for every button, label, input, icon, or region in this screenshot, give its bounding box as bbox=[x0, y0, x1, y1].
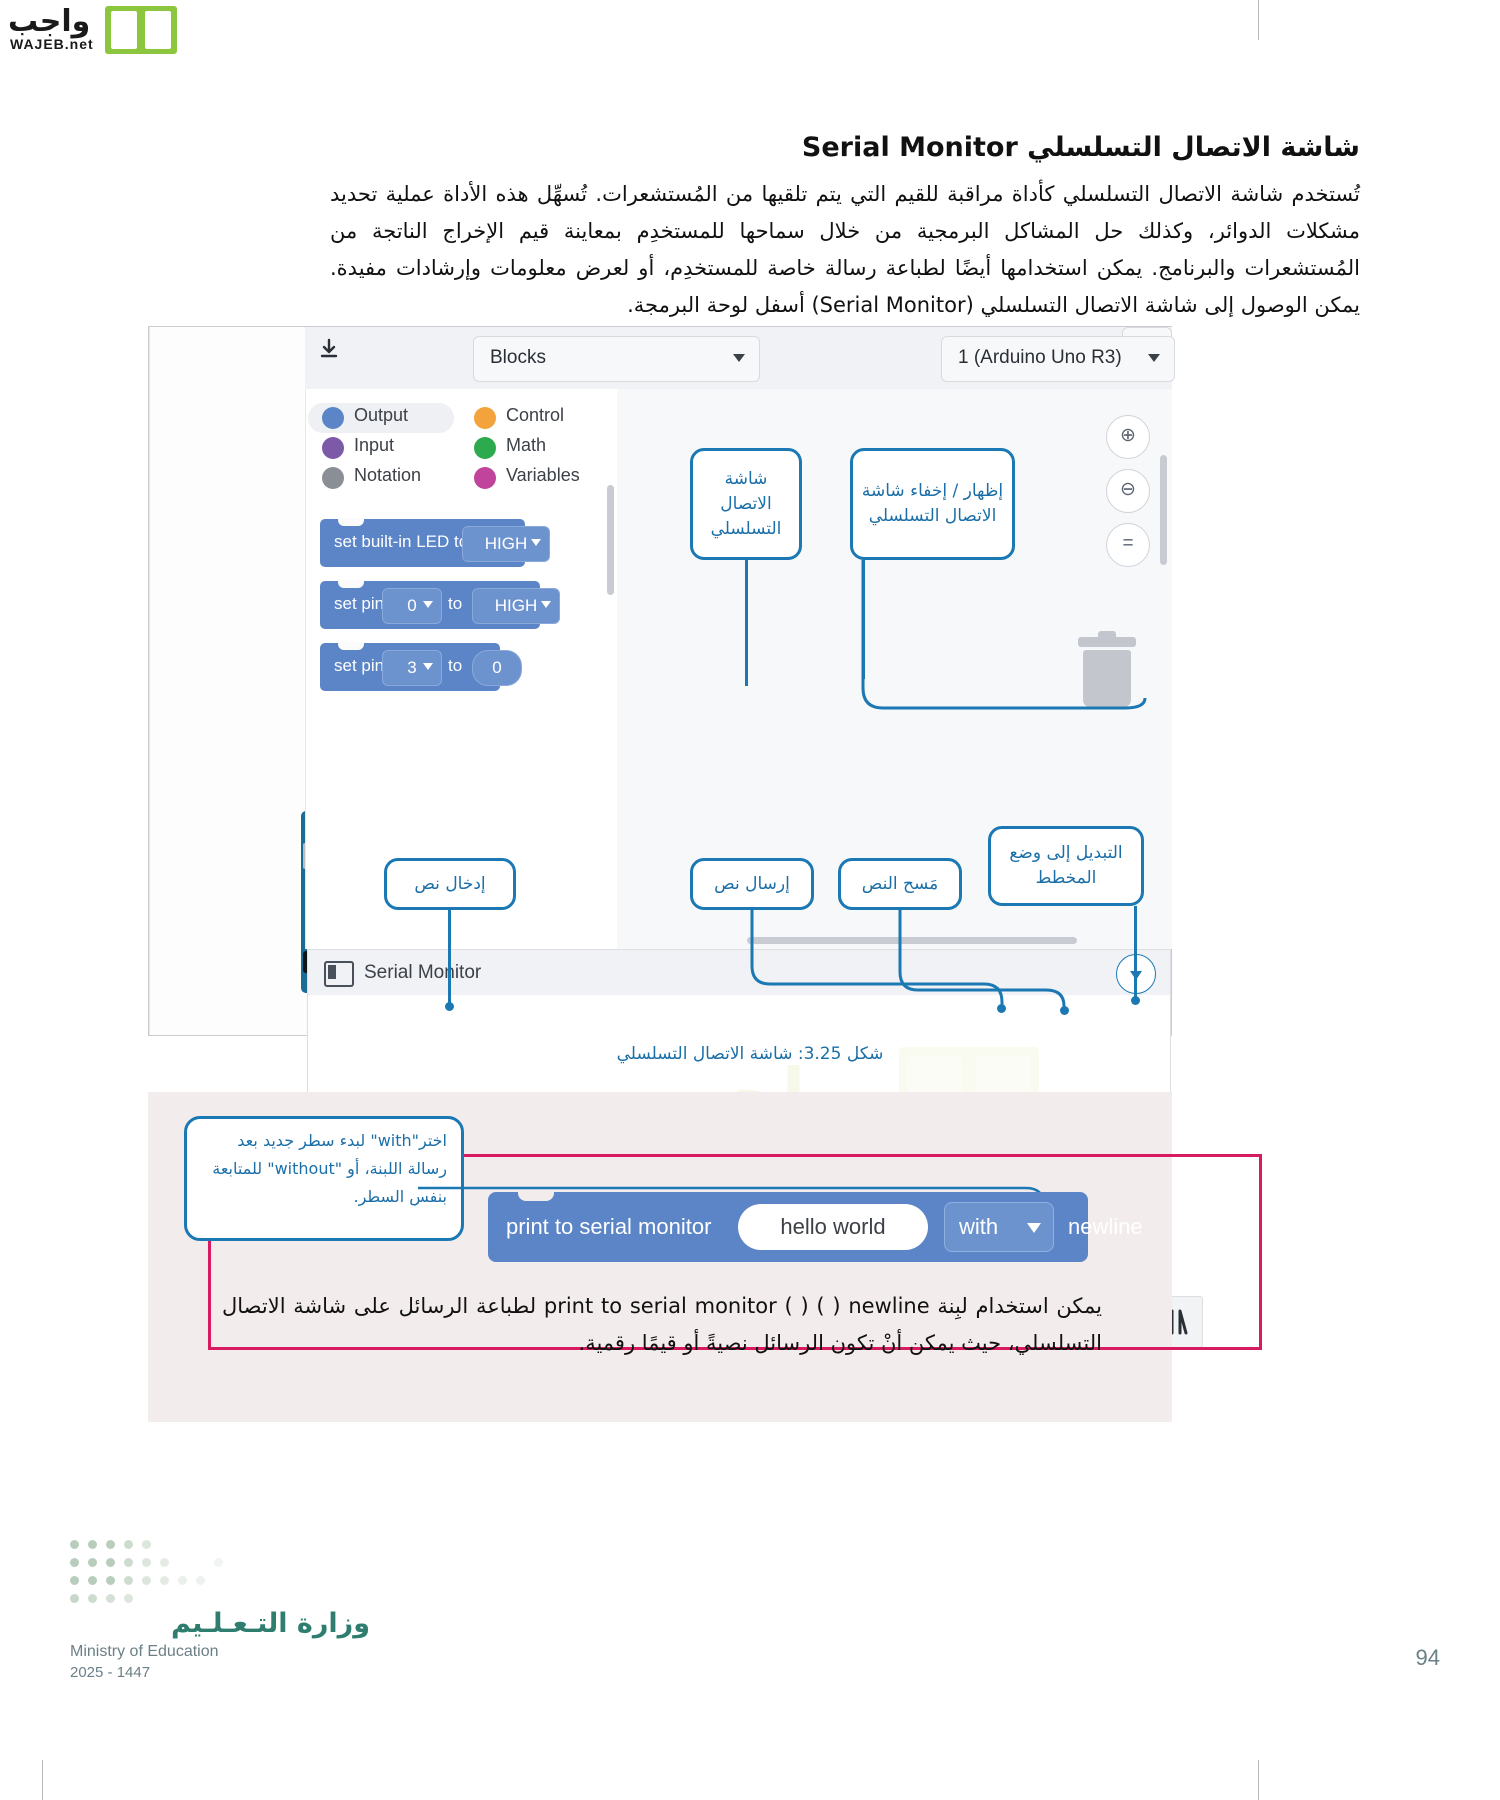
crop-mark-bottom-left bbox=[42, 1760, 43, 1800]
zoom-out-icon: ⊖ bbox=[1107, 470, 1149, 512]
callout-anchor-dot bbox=[445, 1002, 454, 1011]
callout-show-hide-serial-monitor: إظهار / إخفاء شاشة الاتصال التسلسلي bbox=[850, 448, 1015, 560]
figure-caption: شكل 3.25: شاشة الاتصال التسلسلي bbox=[0, 1044, 1500, 1064]
callout-leader-line bbox=[745, 560, 748, 686]
callout-leader-curve bbox=[888, 908, 1088, 1018]
block-number-value[interactable]: 0 bbox=[472, 650, 522, 686]
block-label-to: to bbox=[448, 594, 462, 614]
crop-mark-bottom-right bbox=[1258, 1760, 1259, 1800]
block-value: 0 bbox=[407, 596, 416, 615]
block-label: set pin bbox=[334, 594, 384, 614]
block-label: set pin bbox=[334, 656, 384, 676]
category-color-dot bbox=[474, 437, 496, 459]
print-block-message-value[interactable]: hello world bbox=[738, 1204, 928, 1250]
ministry-of-education-logo: وزارة التـعـلـيم Ministry of Education 2… bbox=[70, 1608, 370, 1681]
decorative-dots bbox=[70, 1540, 250, 1610]
intro-paragraph: تُستخدم شاشة الاتصال التسلسلي كأداة مراق… bbox=[330, 176, 1360, 324]
category-label: Math bbox=[506, 435, 546, 456]
category-label: Input bbox=[354, 435, 394, 456]
block-pin-dropdown[interactable]: 0 bbox=[382, 588, 442, 624]
block-set-builtin-led[interactable]: set built-in LED to HIGH bbox=[320, 519, 525, 567]
chevron-down-icon bbox=[1148, 354, 1160, 362]
callout-send-text: إرسال نص bbox=[690, 858, 814, 910]
callout-enter-text: إدخال نص bbox=[384, 858, 516, 910]
print-block-newline-dropdown[interactable]: with bbox=[944, 1202, 1054, 1252]
chevron-down-icon bbox=[733, 354, 745, 362]
zoom-in-button[interactable]: ⊕ bbox=[1106, 415, 1150, 459]
block-value: 0 bbox=[492, 658, 501, 677]
block-set-pin-high[interactable]: set pin 0 to HIGH bbox=[320, 581, 540, 629]
pink-frame-right bbox=[1259, 1154, 1262, 1350]
editor-left-rail bbox=[149, 327, 306, 1035]
block-set-pin-value[interactable]: set pin 3 to 0 bbox=[320, 643, 500, 691]
page-title: شاشة الاتصال التسلسلي Serial Monitor bbox=[340, 132, 1360, 163]
callout-switch-to-graph-mode: التبديل إلى وضع المخطط bbox=[988, 826, 1144, 906]
category-label: Control bbox=[506, 405, 564, 426]
callout-anchor-dot bbox=[1060, 1006, 1069, 1015]
wajeb-logo: واجب WAJEB.net bbox=[0, 0, 200, 60]
page-number: 94 bbox=[1416, 1645, 1440, 1671]
board-select[interactable]: 1 (Arduino Uno R3) bbox=[941, 336, 1175, 382]
category-label: Variables bbox=[506, 465, 580, 486]
category-label: Output bbox=[354, 405, 408, 426]
open-book-icon bbox=[105, 6, 177, 54]
print-block-label: print to serial monitor bbox=[506, 1214, 711, 1240]
print-block-suffix: newline bbox=[1068, 1214, 1143, 1240]
download-icon bbox=[317, 337, 341, 361]
block-pin-dropdown[interactable]: 3 bbox=[382, 650, 442, 686]
wajeb-logo-arabic: واجب bbox=[8, 4, 90, 39]
print-to-serial-monitor-block[interactable]: print to serial monitor hello world with… bbox=[488, 1192, 1088, 1262]
blocks-mode-value: Blocks bbox=[490, 347, 546, 369]
ministry-name-english: Ministry of Education bbox=[70, 1643, 370, 1661]
callout-leader-curve bbox=[855, 548, 1165, 723]
category-color-dot bbox=[322, 437, 344, 459]
category-color-dot bbox=[474, 407, 496, 429]
chevron-down-icon bbox=[1027, 1223, 1041, 1233]
callout-serial-monitor-screen: شاشة الاتصال التسلسلي bbox=[690, 448, 802, 560]
blocks-mode-select[interactable]: Blocks bbox=[473, 336, 760, 382]
category-legend: Output Control Input Math bbox=[306, 403, 618, 493]
print-block-dropdown-value: with bbox=[959, 1214, 998, 1239]
callout-clear-text: مَسح النص bbox=[838, 858, 962, 910]
serial-monitor-icon bbox=[324, 961, 354, 987]
callout-anchor-dot bbox=[1131, 996, 1140, 1005]
block-value: HIGH bbox=[495, 596, 538, 615]
editor-toolbar: Blocks 1 (Arduino Uno R3) bbox=[305, 327, 1172, 390]
category-color-dot bbox=[322, 467, 344, 489]
block-state-dropdown[interactable]: HIGH bbox=[472, 588, 560, 624]
block-label: set built-in LED to bbox=[334, 532, 468, 552]
category-color-dot bbox=[322, 407, 344, 429]
block-value-dropdown[interactable]: HIGH bbox=[462, 526, 550, 562]
note-panel: اختر"with" لبدء سطر جديد بعد رسالة اللبن… bbox=[148, 1092, 1172, 1422]
zoom-in-icon: ⊕ bbox=[1107, 416, 1149, 458]
callout-leader-line bbox=[448, 910, 451, 1006]
crop-mark-top bbox=[1258, 0, 1259, 40]
ministry-year: 2025 - 1447 bbox=[70, 1664, 370, 1681]
serial-monitor-title: Serial Monitor bbox=[364, 962, 481, 984]
callout-leader-line bbox=[1134, 906, 1137, 1000]
board-select-value: 1 (Arduino Uno R3) bbox=[958, 347, 1122, 369]
wajeb-logo-latin: WAJEB.net bbox=[10, 36, 94, 52]
block-label-to: to bbox=[448, 656, 462, 676]
category-color-dot bbox=[474, 467, 496, 489]
note-description: يمكن استخدام لبِنة print to serial monit… bbox=[222, 1288, 1102, 1362]
palette-scrollbar[interactable] bbox=[607, 485, 614, 595]
ministry-name-arabic: وزارة التـعـلـيم bbox=[70, 1608, 370, 1639]
category-label: Notation bbox=[354, 465, 421, 486]
block-value: HIGH bbox=[485, 534, 528, 553]
zoom-out-button[interactable]: ⊖ bbox=[1106, 469, 1150, 513]
block-value: 3 bbox=[407, 658, 416, 677]
